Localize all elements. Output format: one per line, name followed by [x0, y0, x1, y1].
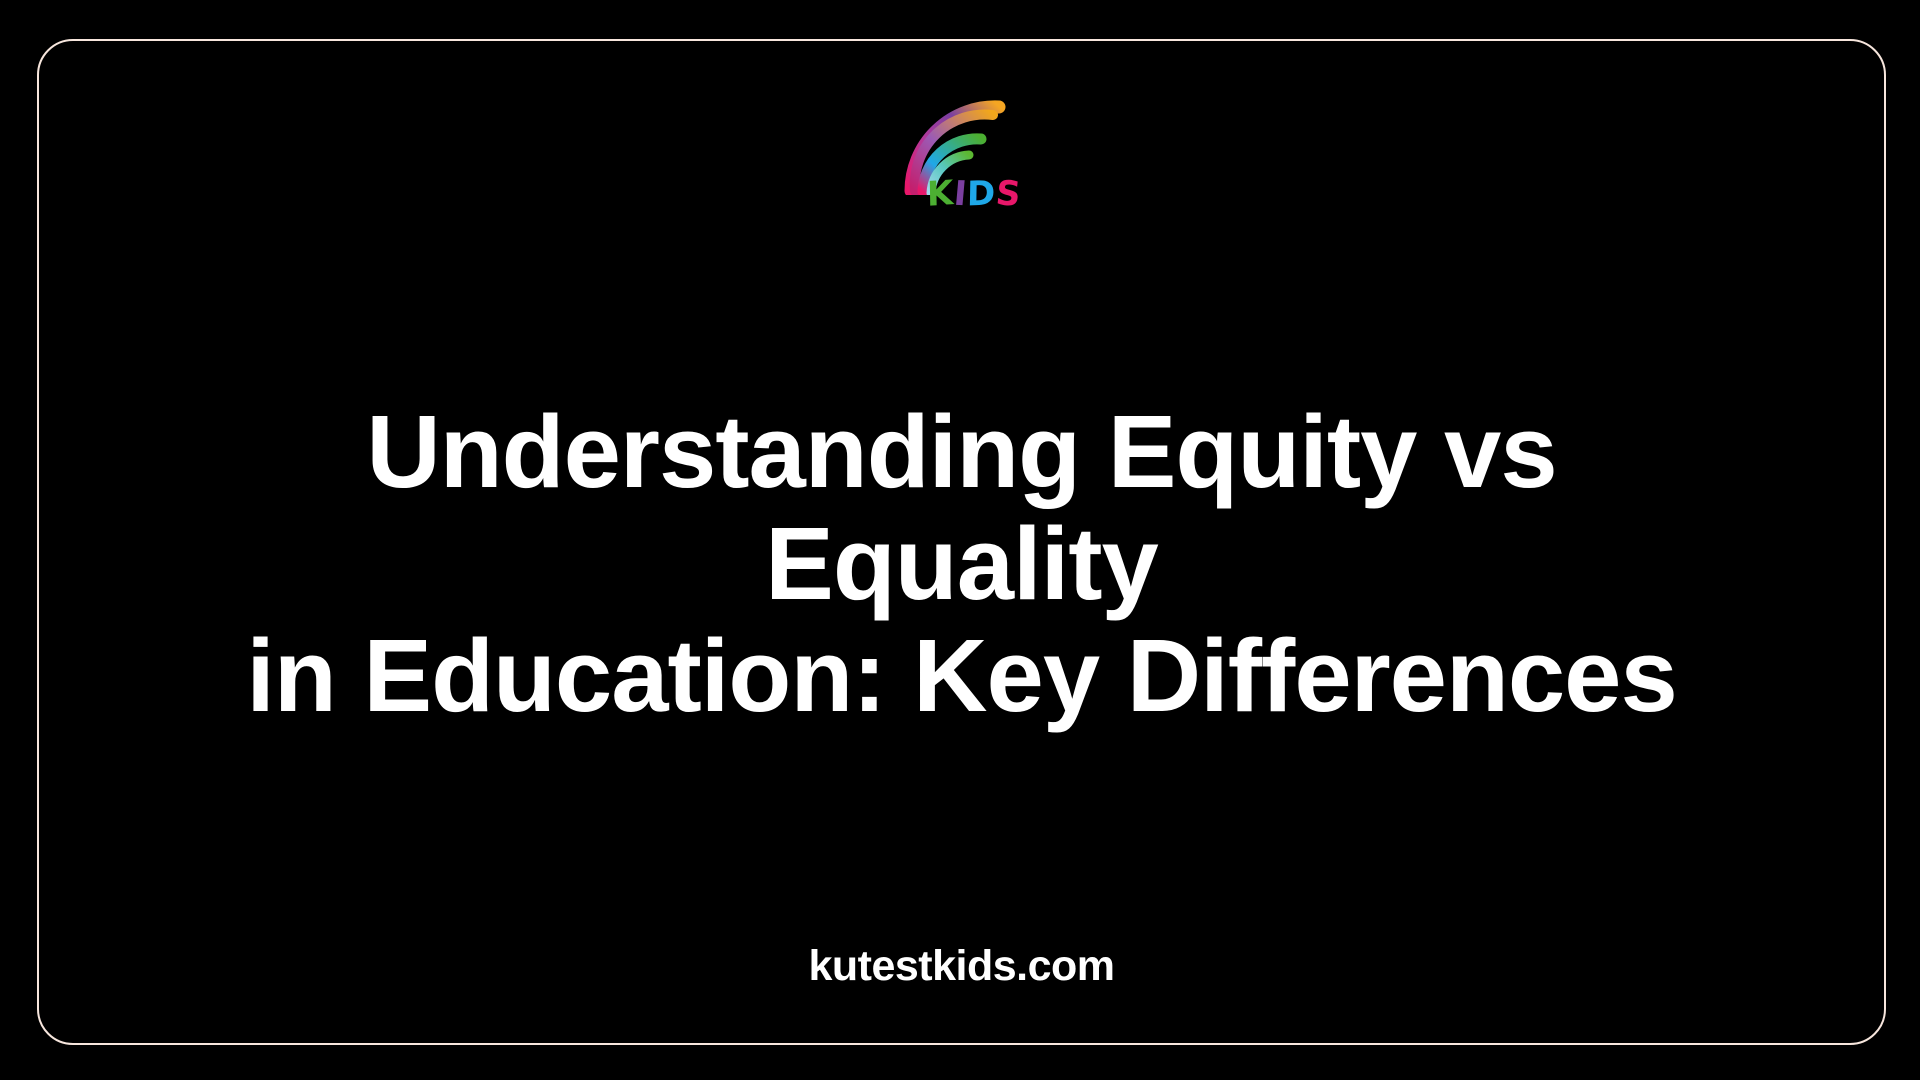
brand-logo-inner: KIDS	[887, 93, 1037, 221]
title-card-canvas: KIDS Understanding Equity vs Equalityin …	[0, 0, 1920, 1080]
site-url: kutestkids.com	[808, 941, 1114, 993]
page-title-line-2: in Education: Key Differences	[246, 618, 1677, 733]
wordmark-letter-k: K	[926, 176, 953, 212]
page-title-line-1: Understanding Equity vs Equality	[366, 394, 1556, 621]
footer-container: kutestkids.com	[39, 941, 1884, 993]
brand-logo: KIDS	[39, 93, 1884, 223]
bordered-card: KIDS Understanding Equity vs Equalityin …	[37, 39, 1886, 1045]
page-title: Understanding Equity vs Equalityin Educa…	[182, 396, 1742, 732]
wordmark-letter-d: D	[966, 177, 995, 212]
headline-container: Understanding Equity vs Equalityin Educa…	[39, 396, 1884, 732]
wordmark-letter-i: I	[952, 177, 968, 211]
wordmark-letter-s: S	[994, 176, 1022, 211]
brand-wordmark: KIDS	[926, 177, 1022, 211]
